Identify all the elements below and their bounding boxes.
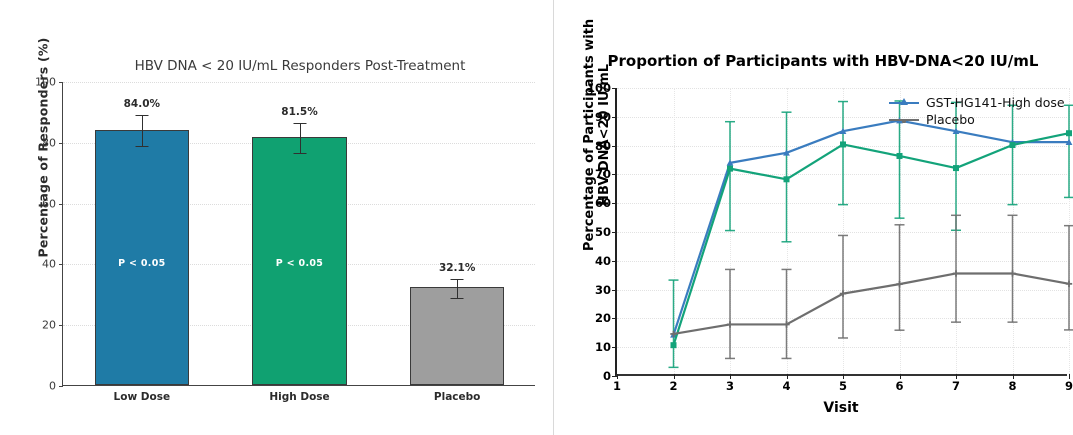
line-chart-plot-area: 0102030405060708090100123456789GST-HG141… [615, 88, 1067, 376]
legend-marker [900, 117, 908, 125]
line-chart-marker-square [897, 153, 903, 159]
line-chart-y-tick-label: 90 [595, 110, 611, 124]
legend-marker [900, 98, 908, 105]
legend-item-label: GST-HG141-High dose [926, 95, 1065, 110]
bar-value-label: 32.1% [439, 262, 475, 274]
bar-chart-y-tickmark [59, 143, 63, 144]
bar-chart-title: HBV DNA < 20 IU/mL Responders Post-Treat… [60, 58, 540, 74]
line-chart-x-tick-label: 5 [839, 379, 847, 393]
line-chart-y-tick-label: 50 [595, 225, 611, 239]
bar-x-category-label: Placebo [434, 391, 480, 403]
line-chart-y-tick-label: 0 [603, 369, 611, 383]
bar-chart-y-tick-label: 60 [42, 197, 56, 210]
line-chart-y-tick-label: 30 [595, 283, 611, 297]
line-chart-y-tick-label: 20 [595, 311, 611, 325]
line-chart-marker-square [1066, 130, 1072, 136]
bar-error-bar-cap [293, 153, 306, 154]
line-chart-x-tick-label: 6 [895, 379, 903, 393]
bar-significance-annotation: P < 0.05 [276, 258, 323, 269]
bar-chart-y-tickmark [59, 82, 63, 83]
bar-significance-annotation: P < 0.05 [118, 258, 165, 269]
bar-error-bar-cap [451, 279, 464, 280]
bar-error-bar-cap [293, 123, 306, 124]
line-chart-x-tick-label: 7 [952, 379, 960, 393]
bar-chart-y-tick-label: 40 [42, 258, 56, 271]
line-chart-marker-square [1010, 142, 1016, 148]
line-chart-x-tick-label: 9 [1065, 379, 1073, 393]
line-chart-x-axis-label: Visit [615, 400, 1067, 416]
bar-error-bar-cap [135, 146, 148, 147]
bar-placebo[interactable] [410, 287, 505, 385]
line-chart-x-tick-label: 2 [669, 379, 677, 393]
bar-chart-y-tickmark [59, 325, 63, 326]
bar-error-bar [142, 115, 143, 145]
y-axis-label-line1: Percentage of Participants with [582, 19, 597, 251]
bar-error-bar [457, 279, 458, 297]
bar-chart-panel: HBV DNA < 20 IU/mL Responders Post-Treat… [0, 0, 553, 435]
bar-value-label: 84.0% [124, 98, 160, 110]
line-chart-y-tick-label: 40 [595, 254, 611, 268]
bar-x-category-label: High Dose [269, 391, 329, 403]
line-chart-series-layer [617, 88, 1069, 376]
bar-chart-plot-area: 02040608010084.0%P < 0.05Low Dose81.5%P … [62, 82, 535, 386]
line-chart-y-tick-label: 100 [587, 81, 611, 95]
bar-chart-y-tick-label: 0 [49, 380, 56, 393]
bar-chart-y-tickmark [59, 204, 63, 205]
line-chart-y-tick-label: 80 [595, 139, 611, 153]
bar-chart-y-tick-label: 20 [42, 319, 56, 332]
line-chart-marker-square [840, 141, 846, 147]
line-chart-marker-square [784, 176, 790, 182]
bar-value-label: 81.5% [281, 106, 317, 118]
bar-x-category-label: Low Dose [114, 391, 171, 403]
line-chart-marker-square [727, 166, 733, 172]
line-chart-panel: Proportion of Participants with HBV-DNA<… [553, 0, 1073, 435]
legend-item[interactable]: GST-HG141-High dose [889, 94, 1065, 111]
bar-chart-y-tick-label: 80 [42, 136, 56, 149]
bar-chart-y-tickmark [59, 264, 63, 265]
legend-star-icon [889, 119, 919, 121]
line-chart-y-tick-label: 60 [595, 196, 611, 210]
bar-error-bar-cap [135, 115, 148, 116]
line-chart-x-tick-label: 4 [782, 379, 790, 393]
bar-chart-gridline [63, 82, 535, 83]
line-chart-marker-square [953, 165, 959, 171]
legend-item-label: Placebo [926, 112, 975, 127]
line-chart-legend: GST-HG141-High dosePlacebo [889, 94, 1065, 128]
line-chart-y-tick-label: 70 [595, 167, 611, 181]
line-chart-series-line [674, 121, 1070, 335]
line-chart-marker-square [671, 342, 677, 348]
line-chart-x-tick-label: 3 [726, 379, 734, 393]
line-chart-x-tick-label: 1 [613, 379, 621, 393]
legend-item[interactable]: Placebo [889, 111, 1065, 128]
bar-error-bar [300, 123, 301, 153]
bar-chart-y-tick-label: 100 [35, 76, 56, 89]
line-chart-y-tick-label: 10 [595, 340, 611, 354]
bar-low-dose[interactable] [95, 130, 190, 385]
bar-chart-y-tickmark [59, 386, 63, 387]
legend-triangle-icon [889, 102, 919, 104]
line-chart-title: Proportion of Participants with HBV-DNA<… [573, 52, 1073, 70]
bar-error-bar-cap [451, 298, 464, 299]
line-chart-x-tick-label: 8 [1008, 379, 1016, 393]
figure-container: HBV DNA < 20 IU/mL Responders Post-Treat… [0, 0, 1073, 435]
